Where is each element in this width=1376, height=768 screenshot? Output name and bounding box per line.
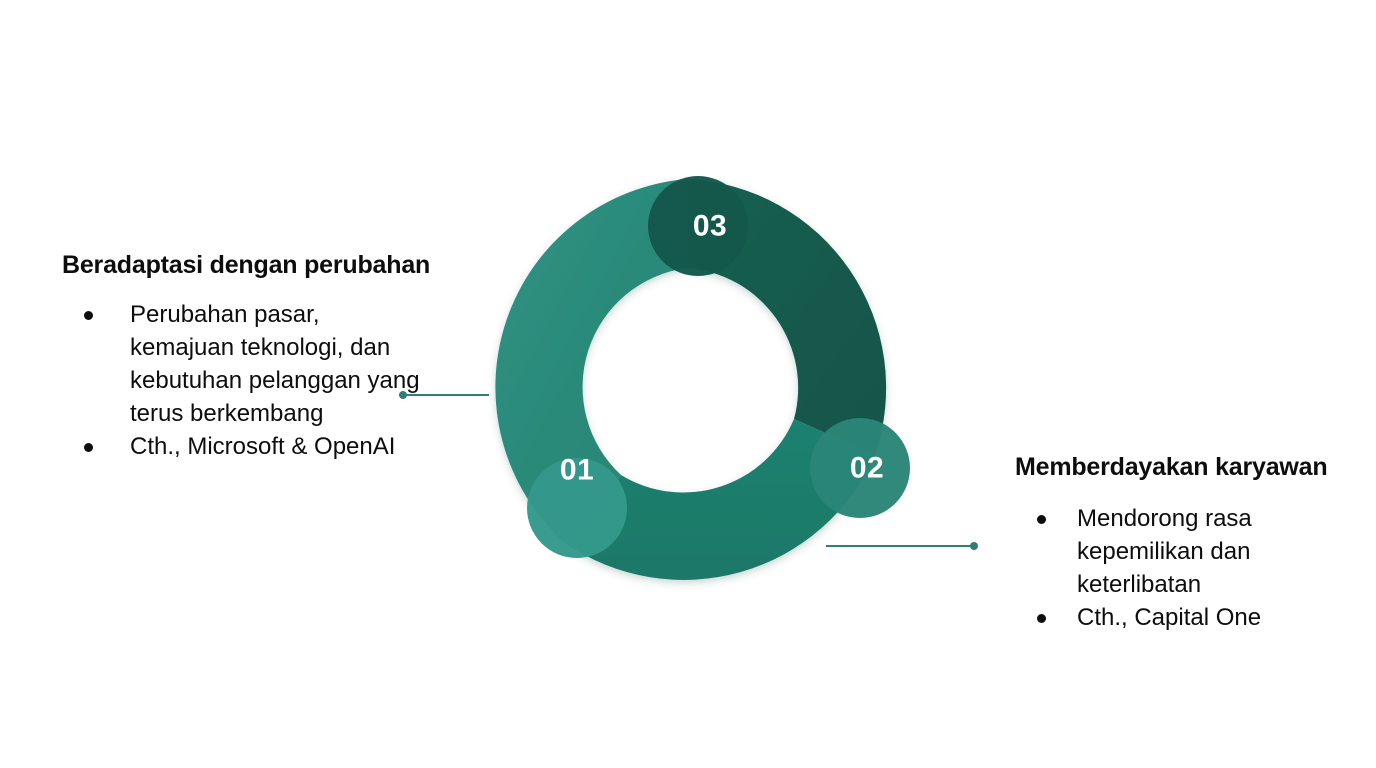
- list-item: Cth., Microsoft & OpenAI: [62, 430, 430, 463]
- callout-left-bullets: Perubahan pasar, kemajuan teknologi, dan…: [62, 298, 482, 463]
- bullet-list-left: Perubahan pasar, kemajuan teknologi, dan…: [62, 298, 482, 463]
- connector-right-dot: [970, 542, 978, 550]
- ring-label-01: 01: [560, 454, 594, 487]
- connector-right-line: [826, 545, 974, 547]
- list-item: Mendorong rasa kepemilikan dan keterliba…: [1015, 502, 1376, 601]
- list-item: Perubahan pasar, kemajuan teknologi, dan…: [62, 298, 430, 430]
- callout-left-title: Beradaptasi dengan perubahan: [62, 250, 482, 280]
- bullet-dot-icon: [1037, 515, 1046, 524]
- bullet-text: Mendorong rasa kepemilikan dan keterliba…: [1077, 505, 1252, 598]
- callout-right-bullets: Mendorong rasa kepemilikan dan keterliba…: [1015, 502, 1375, 634]
- bullet-text: Cth., Microsoft & OpenAI: [130, 433, 395, 460]
- ring-label-02: 02: [850, 452, 884, 485]
- callout-right: Memberdayakan karyawan Mendorong rasa ke…: [1015, 452, 1375, 634]
- bullet-text: Perubahan pasar, kemajuan teknologi, dan…: [130, 301, 420, 427]
- callout-right-title: Memberdayakan karyawan: [1015, 452, 1375, 482]
- callout-left: Beradaptasi dengan perubahan Perubahan p…: [62, 250, 482, 463]
- list-item: Cth., Capital One: [1015, 601, 1376, 634]
- bullet-dot-icon: [84, 311, 93, 320]
- bullet-dot-icon: [1037, 614, 1046, 623]
- bullet-text: Cth., Capital One: [1077, 604, 1261, 631]
- donut-chart: 01 02 03: [455, 155, 925, 625]
- bullet-dot-icon: [84, 443, 93, 452]
- donut-chart-svg: 01 02 03: [455, 155, 925, 625]
- bullet-list-right: Mendorong rasa kepemilikan dan keterliba…: [1015, 502, 1375, 634]
- ring-label-03: 03: [693, 210, 727, 243]
- slide-canvas: 01 02 03 Beradaptasi dengan perubahan Pe…: [0, 0, 1376, 768]
